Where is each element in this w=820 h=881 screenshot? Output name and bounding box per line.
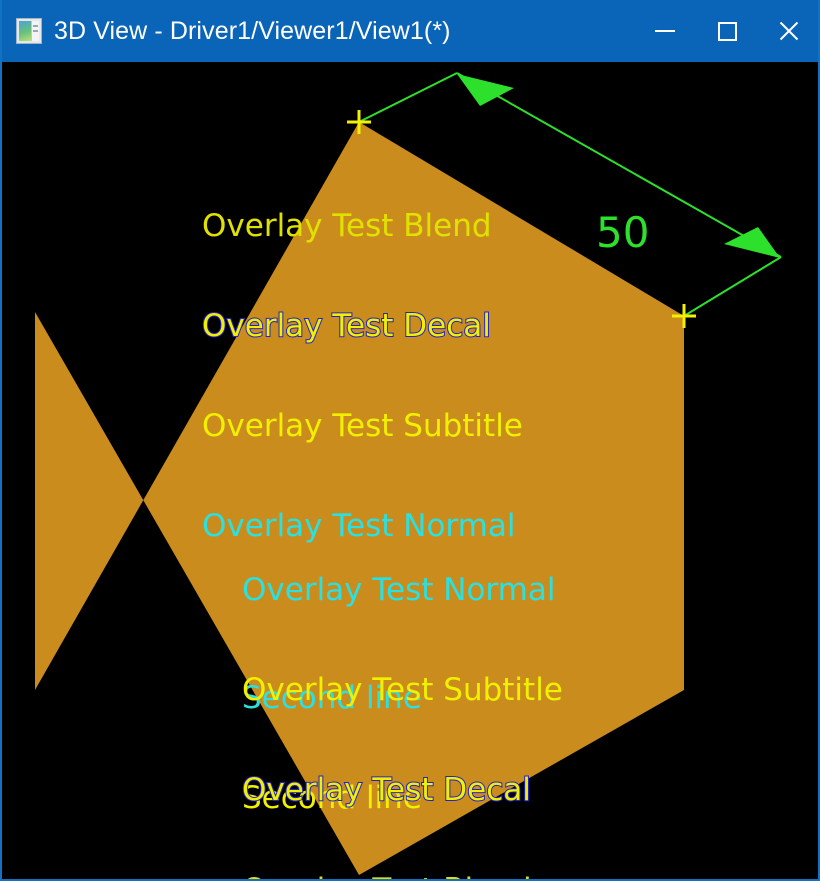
dimension-value-label: 50	[596, 208, 649, 257]
app-window: 3D View - Driver1/Viewer1/View1(*)	[0, 0, 820, 881]
dimension-extension-line-left	[359, 73, 457, 122]
window-title: 3D View - Driver1/Viewer1/View1(*)	[54, 17, 451, 46]
minimize-icon	[655, 30, 675, 32]
maximize-button[interactable]	[696, 0, 758, 62]
icon-panel-line	[33, 25, 38, 27]
close-icon	[777, 19, 801, 43]
minimize-button[interactable]	[634, 0, 696, 62]
3d-viewport[interactable]: 50 Overlay Test Blend Overlay Test Blend…	[2, 62, 818, 879]
scene-canvas[interactable]: 50	[2, 62, 818, 879]
close-button[interactable]	[758, 0, 820, 62]
dimension-extension-line-right	[684, 257, 781, 316]
title-bar[interactable]: 3D View - Driver1/Viewer1/View1(*)	[0, 0, 820, 62]
maximize-icon	[718, 22, 737, 41]
icon-panel-line	[33, 30, 38, 32]
dimension-arrowhead-end	[724, 227, 780, 258]
hexagon-solid[interactable]	[35, 122, 684, 875]
viewer-app-icon	[16, 18, 42, 44]
window-controls	[634, 0, 820, 62]
